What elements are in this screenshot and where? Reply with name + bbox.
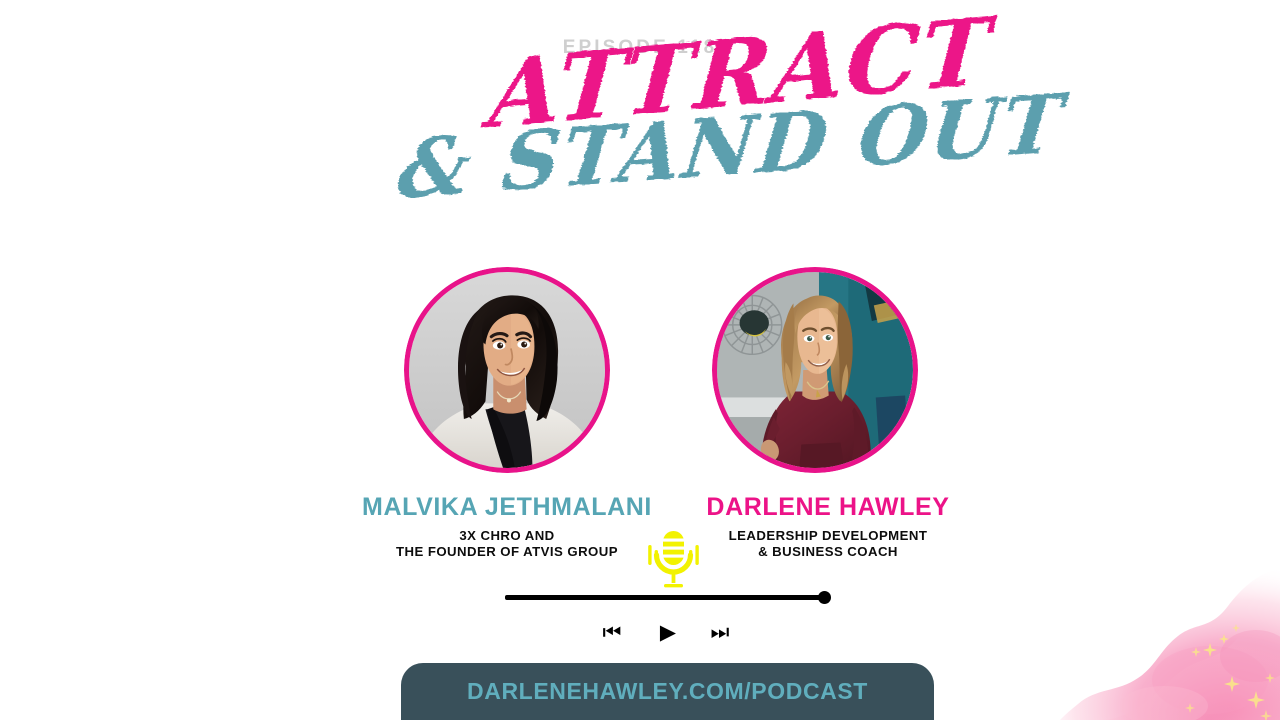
guest-title-left-line2: THE FOUNDER OF ATVIS GROUP bbox=[357, 544, 657, 560]
guest-photo-malvika-jethmalani bbox=[404, 267, 610, 473]
guest-title-right-line1: LEADERSHIP DEVELOPMENT bbox=[678, 528, 978, 544]
progress-thumb[interactable] bbox=[818, 591, 831, 604]
play-icon[interactable]: ▶ bbox=[650, 620, 686, 644]
progress-bar[interactable] bbox=[505, 595, 823, 600]
guest-title-left-line1: 3X CHRO AND bbox=[357, 528, 657, 544]
microphone-icon bbox=[645, 528, 702, 595]
guest-title-right: LEADERSHIP DEVELOPMENT & BUSINESS COACH bbox=[678, 528, 978, 559]
portrait-ring bbox=[712, 267, 918, 473]
guest-name-left: MALVIKA JETHMALANI bbox=[357, 493, 657, 522]
guest-name-right: DARLENE HAWLEY bbox=[678, 493, 978, 522]
skip-back-icon[interactable]: ⏮ bbox=[594, 620, 630, 644]
pink-watercolor-wash bbox=[1060, 560, 1280, 720]
skip-forward-icon[interactable]: ⏭ bbox=[702, 620, 738, 644]
show-title-logo: ATTRACT & STAND OUT bbox=[400, 48, 960, 223]
gold-sparkle-stars bbox=[1060, 560, 1280, 720]
podcast-url-banner[interactable]: DARLENEHAWLEY.COM/PODCAST bbox=[401, 663, 934, 720]
podcast-url-label: DARLENEHAWLEY.COM/PODCAST bbox=[401, 678, 934, 705]
guest-title-right-line2: & BUSINESS COACH bbox=[678, 544, 978, 560]
portrait-ring bbox=[404, 267, 610, 473]
guest-photo-darlene-hawley bbox=[712, 267, 918, 473]
podcast-episode-graphic: EPISODE 118 ATTRACT & STAND OUT bbox=[0, 0, 1280, 720]
guest-title-left: 3X CHRO AND THE FOUNDER OF ATVIS GROUP bbox=[357, 528, 657, 559]
